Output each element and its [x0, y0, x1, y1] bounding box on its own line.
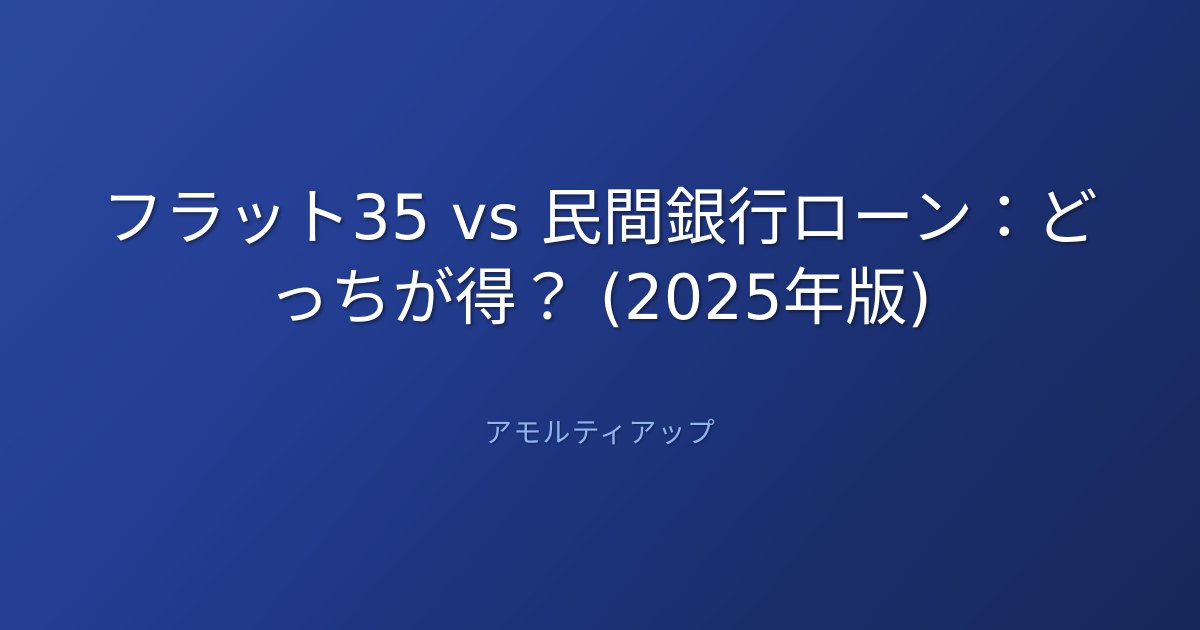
card-content: フラット35 vs 民間銀行ローン：どっちが得？ (2025年版) アモルティア… [0, 178, 1200, 452]
og-share-card: フラット35 vs 民間銀行ローン：どっちが得？ (2025年版) アモルティア… [0, 0, 1200, 630]
card-site-name: アモルティアップ [484, 413, 716, 452]
card-title: フラット35 vs 民間銀行ローン：どっちが得？ (2025年版) [95, 178, 1105, 339]
